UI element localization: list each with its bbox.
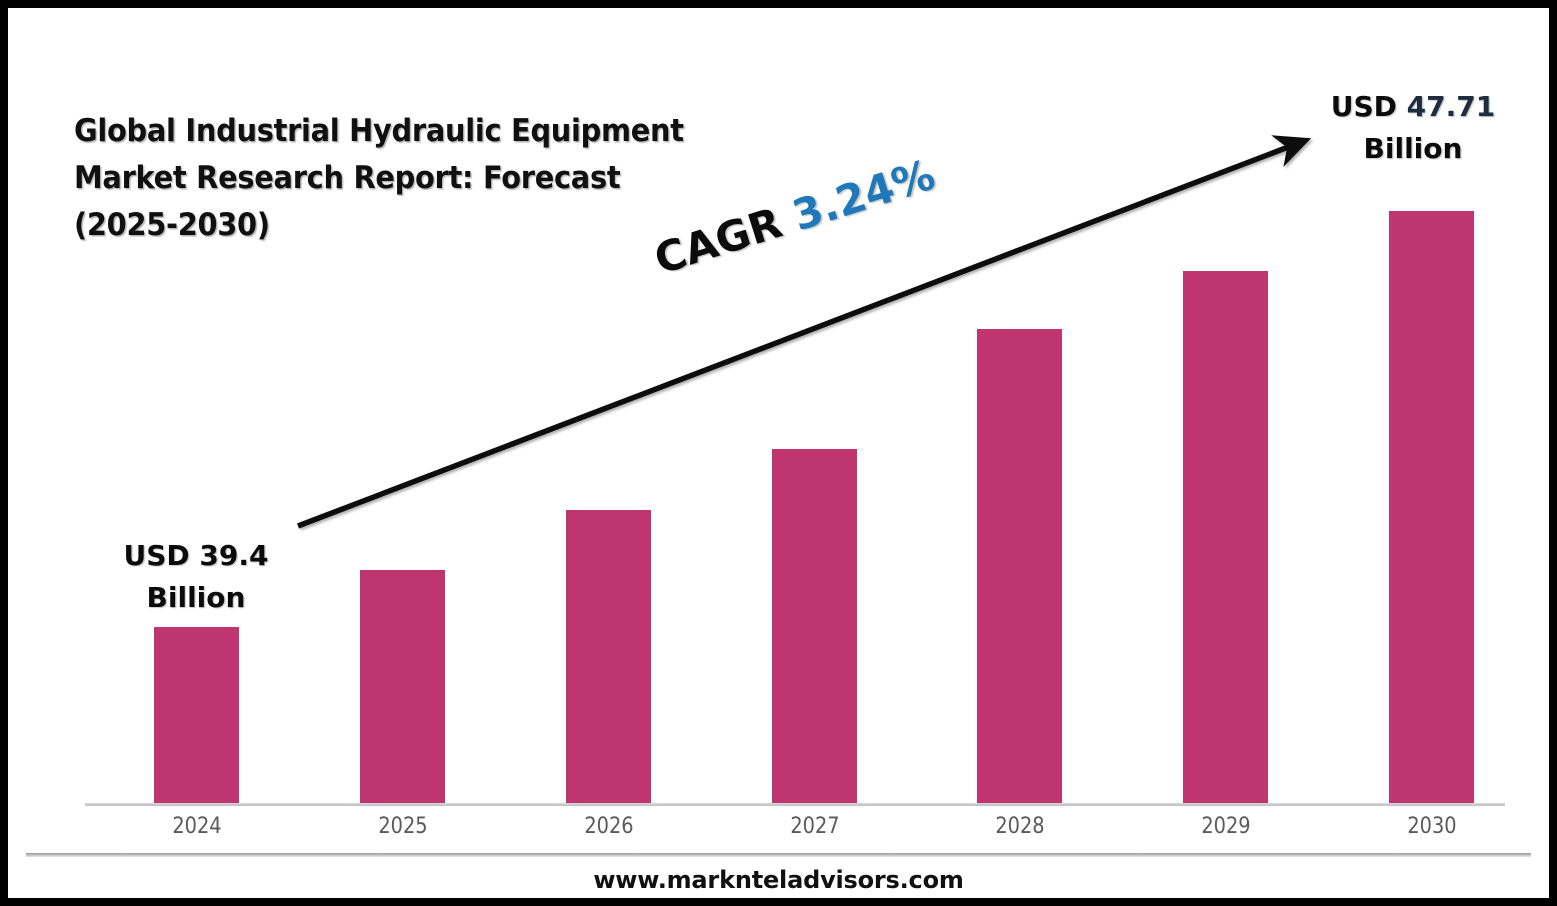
bar-2026	[566, 510, 651, 803]
chart-image: Global Industrial Hydraulic Equipment Ma…	[0, 0, 1557, 906]
end-value-suffix: Billion	[1364, 132, 1463, 165]
x-tick-label-2028: 2028	[954, 814, 1086, 839]
x-axis-line	[85, 803, 1505, 806]
x-tick-label-2024: 2024	[131, 814, 263, 839]
end-value-callout: USD 47.71Billion	[1298, 86, 1528, 170]
end-value-number: 47.71	[1407, 90, 1496, 123]
x-tick-label-2026: 2026	[543, 814, 675, 839]
bar-2030	[1389, 211, 1474, 803]
source-url: www.marknteladvisors.com	[8, 866, 1549, 894]
end-value-prefix: USD	[1331, 90, 1407, 123]
x-tick-label-2030: 2030	[1366, 814, 1498, 839]
x-tick-label-2025: 2025	[337, 814, 469, 839]
start-value-callout: USD 39.4 Billion	[96, 535, 296, 619]
bar-2029	[1183, 271, 1268, 803]
bar-2028	[977, 329, 1062, 803]
x-tick-label-2029: 2029	[1160, 814, 1292, 839]
footer-divider	[26, 853, 1531, 857]
chart-canvas: Global Industrial Hydraulic Equipment Ma…	[8, 8, 1549, 898]
bar-2025	[360, 570, 445, 803]
x-tick-label-2027: 2027	[749, 814, 881, 839]
bar-2024	[154, 627, 239, 803]
bar-2027	[772, 449, 857, 803]
